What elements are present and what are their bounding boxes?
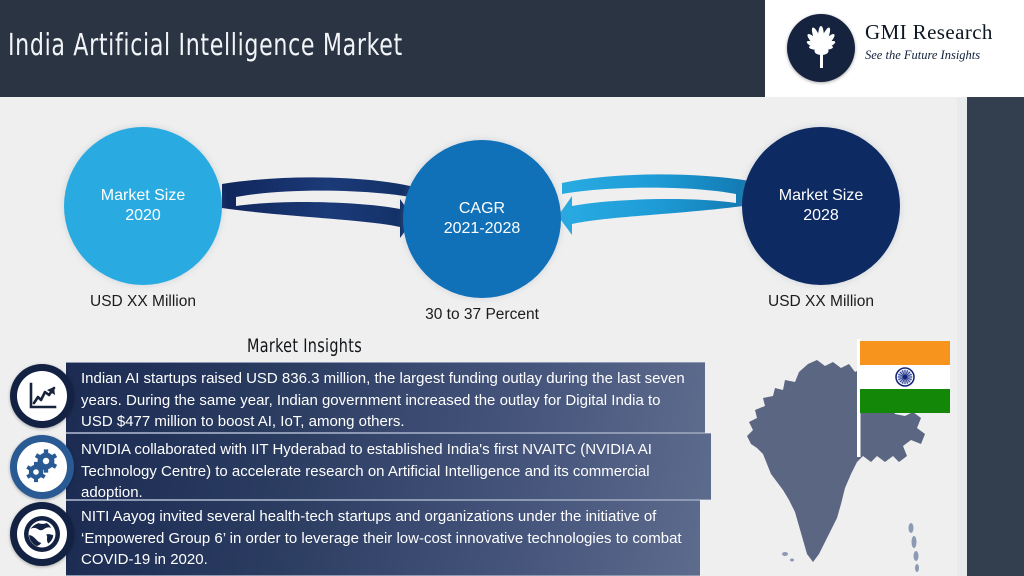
infographic-canvas: India Artificial Intelligence Market <box>0 0 1024 576</box>
brand-logo-area: GMI Research See the Future Insights <box>765 0 1024 97</box>
bubble-market-size-2020[interactable]: Market Size 2020 <box>64 127 222 285</box>
india-flag-icon <box>853 339 953 457</box>
gmi-palm-fan-logo-icon <box>787 14 855 82</box>
growth-chart-icon <box>10 364 74 428</box>
caption-market-size-2028: USD XX Million <box>742 293 900 311</box>
page-title: India Artificial Intelligence Market <box>8 28 607 63</box>
bubble-mid-line2: 2021-2028 <box>444 219 521 239</box>
market-insights-heading: Market Insights <box>247 335 362 357</box>
market-flow-diagram: Market Size 2020 CAGR 2021-2028 Market S… <box>0 97 967 327</box>
bubble-mid-line1: CAGR <box>459 199 505 219</box>
insight-text-2: NVIDIA collaborated with IIT Hyderabad t… <box>66 433 711 500</box>
insight-text-3: NITI Aayog invited several health-tech s… <box>66 500 700 576</box>
brand-tagline: See the Future Insights <box>865 48 1015 63</box>
arrow-left-to-center-icon <box>214 172 414 252</box>
bubble-right-line1: Market Size <box>779 186 863 206</box>
bubble-cagr[interactable]: CAGR 2021-2028 <box>403 140 561 298</box>
globe-icon <box>10 502 74 566</box>
caption-cagr: 30 to 37 Percent <box>403 306 561 324</box>
bubble-left-line2: 2020 <box>125 206 161 226</box>
bubble-left-line1: Market Size <box>101 186 185 206</box>
brand-name: GMI Research <box>865 20 1015 45</box>
gears-icon <box>10 435 74 499</box>
bubble-right-line2: 2028 <box>803 206 839 226</box>
caption-market-size-2020: USD XX Million <box>64 293 222 311</box>
arrow-right-to-center-icon <box>552 169 758 254</box>
right-accent-strip <box>967 97 1024 576</box>
brand-logo-text: GMI Research See the Future Insights <box>865 20 1015 63</box>
bubble-market-size-2028[interactable]: Market Size 2028 <box>742 127 900 285</box>
insight-text-1: Indian AI startups raised USD 836.3 mill… <box>66 362 705 433</box>
